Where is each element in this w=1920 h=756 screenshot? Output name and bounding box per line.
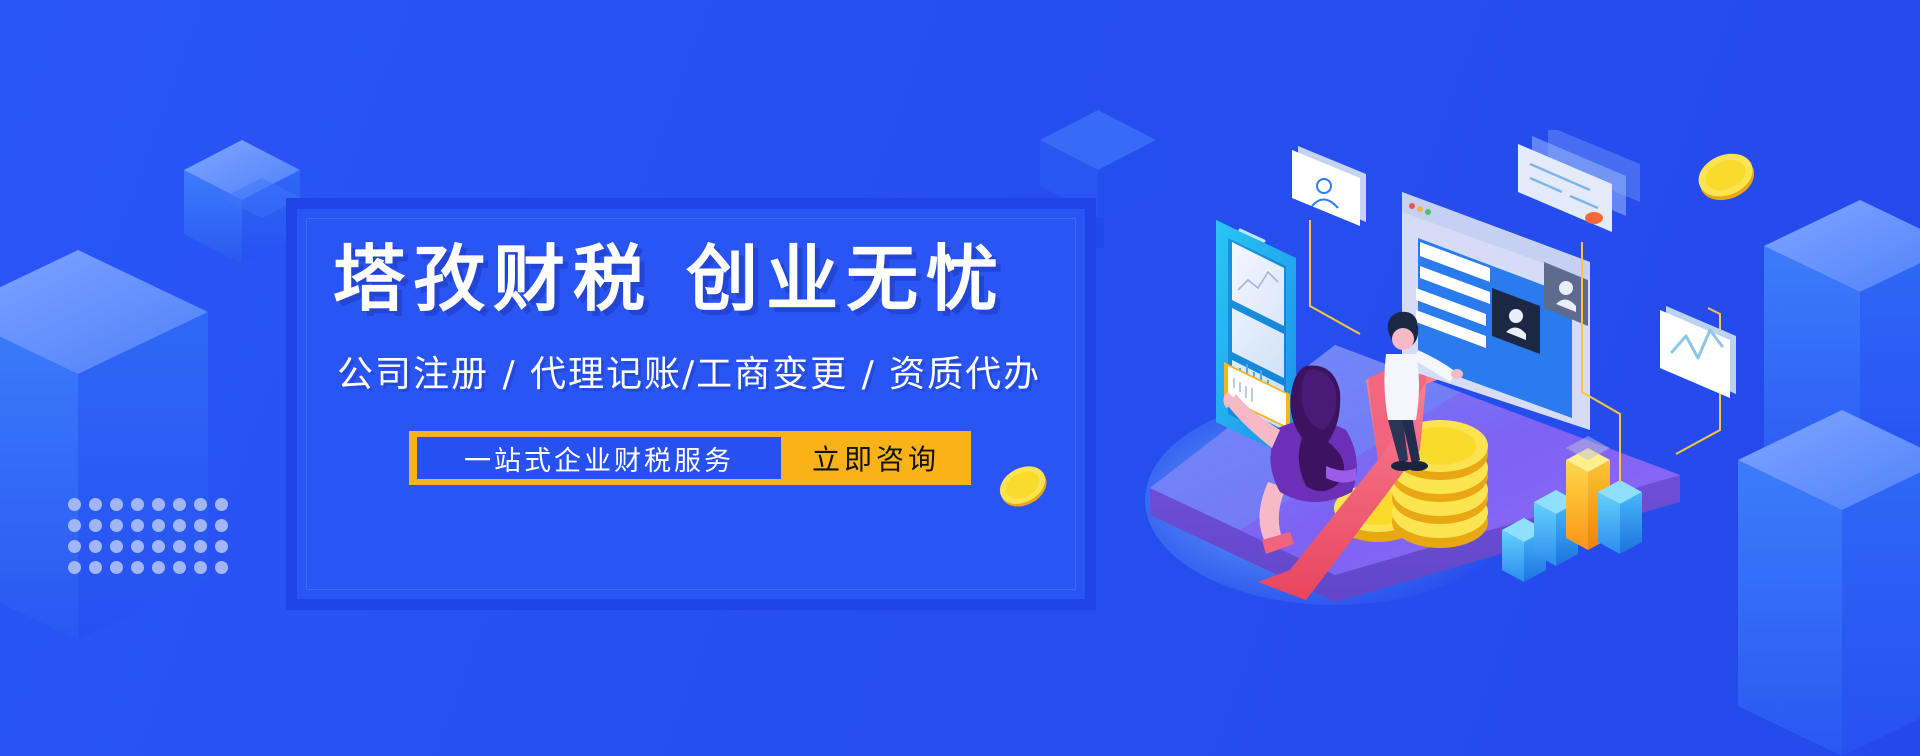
dot-grid-dot [194, 561, 207, 574]
dot-grid-dot [89, 498, 102, 511]
coin-floating-left-icon [992, 455, 1054, 517]
dot-grid-dot [131, 561, 144, 574]
dot-grid-dot [152, 519, 165, 532]
dot-grid-decoration [68, 498, 214, 584]
dot-grid-dot [215, 519, 228, 532]
dot-grid-dot [68, 561, 81, 574]
dot-grid-dot [68, 498, 81, 511]
dot-grid-dot [152, 498, 165, 511]
dot-grid-dot [89, 561, 102, 574]
dot-grid-dot [131, 540, 144, 553]
dot-grid-dot [110, 498, 123, 511]
dot-grid-dot [215, 540, 228, 553]
service-list-subtitle: 公司注册 / 代理记账/工商变更 / 资质代办 [337, 357, 1067, 393]
headline-frame: 塔孜财税 创业无忧 公司注册 / 代理记账/工商变更 / 资质代办 一站式企业财… [286, 198, 1096, 610]
hero-illustration [1120, 130, 1800, 610]
dot-grid-dot [152, 561, 165, 574]
dot-grid-dot [173, 540, 186, 553]
consult-now-button[interactable]: 立即咨询 [781, 431, 971, 485]
dot-grid-dot [215, 561, 228, 574]
dot-grid-dot [110, 519, 123, 532]
card-user-avatar-icon [1292, 146, 1366, 226]
dot-grid-dot [215, 498, 228, 511]
dot-grid-dot [173, 498, 186, 511]
dot-grid-dot [131, 519, 144, 532]
cube-top-left-icon [184, 140, 300, 264]
page-title: 塔孜财税 创业无忧 [333, 243, 1073, 315]
dot-grid-dot [68, 540, 81, 553]
promo-banner: 塔孜财税 创业无忧 公司注册 / 代理记账/工商变更 / 资质代办 一站式企业财… [0, 0, 1920, 756]
dot-grid-dot [110, 561, 123, 574]
dot-grid-dot [110, 540, 123, 553]
dot-grid-dot [194, 519, 207, 532]
dot-grid-dot [152, 540, 165, 553]
dot-grid-dot [89, 519, 102, 532]
dot-grid-dot [68, 519, 81, 532]
dot-grid-dot [89, 540, 102, 553]
dot-grid-dot [173, 561, 186, 574]
card-credit-icon [1518, 130, 1640, 232]
dot-grid-dot [131, 498, 144, 511]
cta-bar: 一站式企业财税服务 立即咨询 [409, 431, 971, 485]
dot-grid-dot [194, 540, 207, 553]
cta-tagline: 一站式企业财税服务 [417, 437, 781, 479]
dot-grid-dot [194, 498, 207, 511]
dot-grid-dot [173, 519, 186, 532]
card-line-chart-icon [1660, 306, 1736, 398]
